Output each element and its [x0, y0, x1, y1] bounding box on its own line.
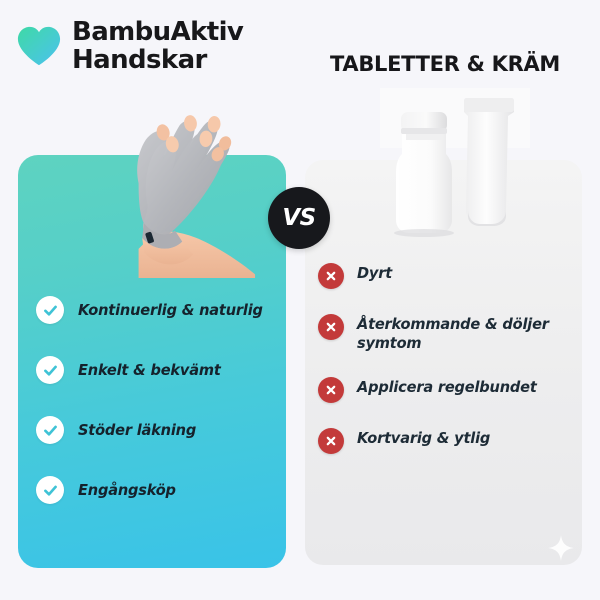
- x-icon: [318, 314, 344, 340]
- list-item-label: Återkommande & döljer symtom: [357, 313, 560, 352]
- drawbacks-list: Dyrt Återkommande & döljer symtom Applic…: [318, 262, 573, 454]
- list-item: Stöder läkning: [36, 416, 286, 444]
- list-item: Kortvarig & ytlig: [318, 427, 573, 454]
- check-icon: [36, 356, 64, 384]
- vs-badge: VS: [268, 187, 330, 249]
- comparison-infographic: BambuAktiv Handskar TABLETTER & KRÄM: [0, 0, 600, 600]
- check-icon: [36, 476, 64, 504]
- sparkle-icon: [548, 535, 574, 561]
- page-title: BambuAktiv Handskar: [72, 18, 243, 74]
- list-item: Kontinuerlig & naturlig: [36, 296, 286, 324]
- x-icon: [318, 428, 344, 454]
- vs-label: VS: [282, 205, 315, 231]
- list-item-label: Applicera regelbundet: [357, 376, 537, 397]
- list-item-label: Kortvarig & ytlig: [357, 427, 490, 448]
- check-icon: [36, 296, 64, 324]
- list-item-label: Dyrt: [357, 262, 392, 283]
- list-item: Enkelt & bekvämt: [36, 356, 286, 384]
- brand-lockup: BambuAktiv Handskar: [16, 18, 243, 74]
- list-item-label: Stöder läkning: [78, 421, 196, 439]
- x-icon: [318, 263, 344, 289]
- x-icon: [318, 377, 344, 403]
- list-item: Applicera regelbundet: [318, 376, 573, 403]
- heart-icon: [16, 24, 62, 68]
- check-icon: [36, 416, 64, 444]
- list-item-label: Engångsköp: [78, 481, 176, 499]
- list-item-label: Enkelt & bekvämt: [78, 361, 221, 379]
- right-column-title: TABLETTER & KRÄM: [305, 52, 585, 76]
- list-item: Dyrt: [318, 262, 573, 289]
- benefits-list: Kontinuerlig & naturlig Enkelt & bekvämt…: [36, 296, 286, 504]
- list-item: Återkommande & döljer symtom: [318, 313, 573, 352]
- list-item: Engångsköp: [36, 476, 286, 504]
- list-item-label: Kontinuerlig & naturlig: [78, 301, 263, 319]
